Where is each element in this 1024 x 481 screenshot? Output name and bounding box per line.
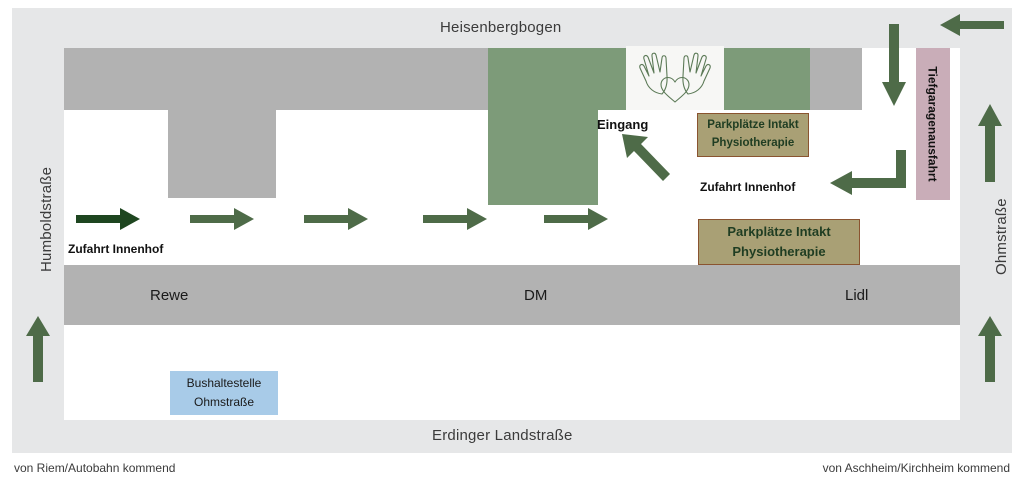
entrance-arrow-icon (620, 130, 682, 191)
garage-exit-arrow-icon (828, 150, 906, 203)
parking-box-lower: Parkplätze Intakt Physiotherapie (698, 219, 860, 265)
street-label-humboldstrasse: Humboldstraße (38, 167, 55, 272)
ohmstrasse-arrow-lower-icon (976, 316, 1004, 387)
street-label-ohmstrasse: Ohmstraße (993, 198, 1010, 275)
street-label-heisenbergbogen: Heisenbergbogen (440, 19, 561, 36)
parking-box-upper-line2: Physiotherapie (712, 135, 794, 153)
footer-note-right: von Aschheim/Kirchheim kommend (823, 461, 1010, 475)
flow-arrow-4-icon (423, 206, 489, 237)
ohmstrasse-arrow-upper-icon (976, 104, 1004, 187)
store-label-lidl: Lidl (845, 287, 868, 304)
garage-exit-label: Tiefgaragenausfahrt (926, 66, 940, 181)
flow-arrow-3-icon (304, 206, 370, 237)
parking-box-lower-line2: Physiotherapie (732, 242, 825, 262)
parking-box-upper-line1: Parkplätze Intakt (707, 117, 798, 135)
garage-exit-box: Tiefgaragenausfahrt (916, 48, 950, 200)
flow-arrow-2-icon (190, 206, 256, 237)
bus-stop-line1: Bushaltestelle (187, 374, 262, 393)
building-store-strip (64, 265, 960, 325)
building-gray-stub (168, 110, 276, 198)
flow-arrow-5-icon (544, 206, 610, 237)
bus-stop-box: Bushaltestelle Ohmstraße (170, 371, 278, 415)
store-label-dm: DM (524, 287, 547, 304)
hands-heart-logo (626, 46, 724, 110)
parking-box-lower-line1: Parkplätze Intakt (727, 222, 830, 242)
courtyard-access-label-right: Zufahrt Innenhof (700, 180, 795, 194)
street-label-erdinger-landstrasse: Erdinger Landstraße (432, 427, 573, 444)
parking-box-upper: Parkplätze Intakt Physiotherapie (697, 113, 809, 157)
inbound-arrow-icon (934, 12, 1004, 43)
building-gray-top-right (810, 48, 862, 110)
bus-stop-line2: Ohmstraße (194, 393, 254, 412)
humboldstrasse-arrow-icon (24, 316, 52, 387)
building-gray-top-left (64, 48, 488, 110)
footer-note-left: von Riem/Autobahn kommend (14, 461, 175, 475)
parking-map: Rewe DM Lidl Tiefgaragenausfahrt Parkplä… (0, 0, 1024, 481)
building-green-main (488, 48, 598, 205)
courtyard-access-label-left: Zufahrt Innenhof (68, 242, 163, 256)
flow-arrow-1-icon (76, 206, 142, 237)
store-label-rewe: Rewe (150, 287, 188, 304)
garage-entry-arrow-icon (880, 24, 908, 115)
